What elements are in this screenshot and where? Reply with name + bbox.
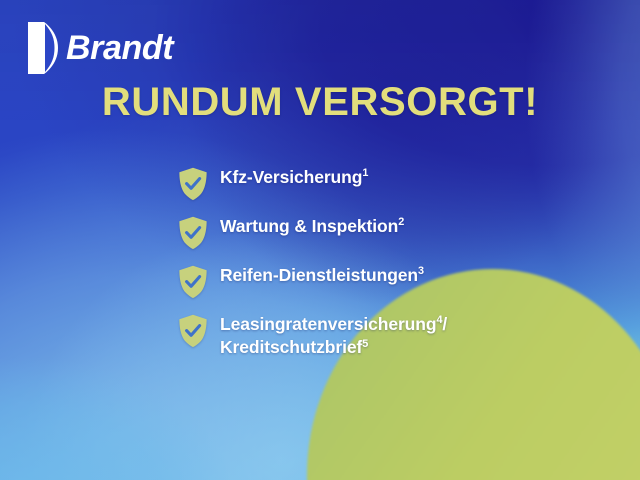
list-item-label: Wartung & Inspektion2 bbox=[220, 215, 404, 238]
list-item: Leasingratenversicherung4/Kreditschutzbr… bbox=[178, 313, 447, 360]
shield-check-icon bbox=[178, 314, 208, 348]
list-item: Kfz-Versicherung1 bbox=[178, 166, 447, 201]
brand-wordmark: Brandt bbox=[66, 31, 173, 65]
shield-check-icon bbox=[178, 265, 208, 299]
list-item: Wartung & Inspektion2 bbox=[178, 215, 447, 250]
banner-content: Brandt RUNDUM VERSORGT! Kfz-Versicherung… bbox=[0, 0, 640, 480]
brand-logo[interactable]: Brandt bbox=[28, 22, 173, 74]
shield-check-icon bbox=[178, 167, 208, 201]
promo-banner: Brandt RUNDUM VERSORGT! Kfz-Versicherung… bbox=[0, 0, 640, 480]
list-item-label: Leasingratenversicherung4/Kreditschutzbr… bbox=[220, 313, 447, 360]
shield-check-icon bbox=[178, 216, 208, 250]
list-item-label: Reifen-Dienstleistungen3 bbox=[220, 264, 424, 287]
list-item-label: Kfz-Versicherung1 bbox=[220, 166, 368, 189]
page-title: RUNDUM VERSORGT! bbox=[0, 82, 640, 122]
brandt-sail-mark-icon bbox=[28, 22, 58, 74]
list-item: Reifen-Dienstleistungen3 bbox=[178, 264, 447, 299]
feature-list: Kfz-Versicherung1 Wartung & Inspektion2 … bbox=[178, 166, 447, 360]
